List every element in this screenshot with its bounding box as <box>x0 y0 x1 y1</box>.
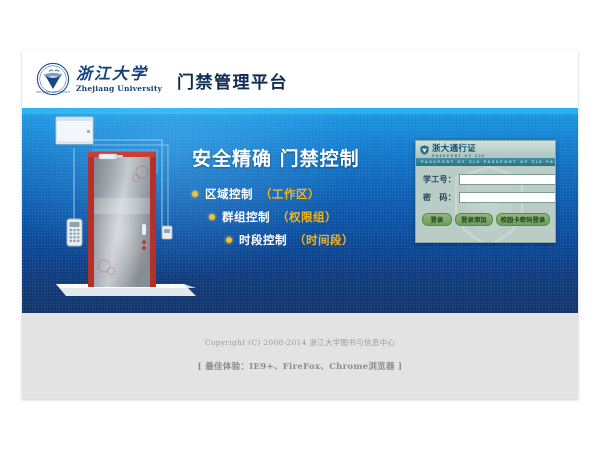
feature-label: 群组控制 <box>222 209 270 225</box>
login-button[interactable]: 登录 <box>422 213 452 226</box>
university-logo[interactable]: ZHEJIANG UNIVERSITY 浙江大学 Zhejiang Univer… <box>36 62 162 96</box>
logo-text-cn: 浙江大学 <box>76 66 162 82</box>
site-footer: Copyright (C) 2008-2014 浙江大学图书与信息中心 [ 最佳… <box>22 313 578 399</box>
feature-item-area-control: 区域控制 （工作区） <box>192 186 422 202</box>
hero-banner: 安全精确 门禁控制 区域控制 （工作区） 群组控制 （权限组） 时段控制 （时间… <box>22 108 578 313</box>
login-button-row: 登录 登录添加 校园卡密码登录 <box>422 213 550 226</box>
feature-label: 区域控制 <box>205 186 253 202</box>
access-control-door-illustration <box>44 114 204 299</box>
account-label: 学工号： <box>423 174 456 185</box>
hero-headline: 安全精确 门禁控制 <box>192 144 422 171</box>
password-label: 密 码： <box>423 192 456 203</box>
passport-repeat-strip: PASSPORT OF ZJU PASSPORT OF ZJU PASSPORT… <box>416 158 555 166</box>
login-panel-titlebar: 浙大通行证 PASSPORT OF ZJU <box>416 141 555 158</box>
bullet-dot-icon <box>226 237 232 243</box>
feature-item-group-control: 群组控制 （权限组） <box>192 209 422 225</box>
site-header: ZHEJIANG UNIVERSITY 浙江大学 Zhejiang Univer… <box>22 50 578 108</box>
account-input[interactable] <box>459 174 556 185</box>
feature-item-time-control: 时段控制 （时间段） <box>192 232 422 248</box>
page-card: ZHEJIANG UNIVERSITY 浙江大学 Zhejiang Univer… <box>22 50 578 399</box>
feature-sublabel: （工作区） <box>260 186 320 202</box>
campus-card-login-button[interactable]: 校园卡密码登录 <box>496 213 550 226</box>
footer-copyright: Copyright (C) 2008-2014 浙江大学图书与信息中心 <box>22 337 578 348</box>
logo-wordmark: 浙江大学 Zhejiang University <box>76 66 162 93</box>
login-panel-title: 浙大通行证 <box>432 145 476 154</box>
feature-sublabel: （时间段） <box>294 232 354 248</box>
bullet-dot-icon <box>192 191 198 197</box>
login-add-button[interactable]: 登录添加 <box>455 213 493 226</box>
account-field-row: 学工号： <box>423 174 549 185</box>
logo-text-en: Zhejiang University <box>76 85 162 93</box>
zju-emblem-icon: ZHEJIANG UNIVERSITY <box>36 62 70 96</box>
feature-sublabel: （权限组） <box>277 209 337 225</box>
hero-copy: 安全精确 门禁控制 区域控制 （工作区） 群组控制 （权限组） 时段控制 （时间… <box>192 144 422 255</box>
shield-icon <box>420 145 429 155</box>
login-panel: 浙大通行证 PASSPORT OF ZJU PASSPORT OF ZJU PA… <box>415 140 556 243</box>
page-title: 门禁管理平台 <box>177 68 288 93</box>
password-field-row: 密 码： <box>423 192 549 203</box>
password-input[interactable] <box>459 192 556 203</box>
svg-text:ZHEJIANG UNIVERSITY: ZHEJIANG UNIVERSITY <box>36 91 70 94</box>
hero-feature-list: 区域控制 （工作区） 群组控制 （权限组） 时段控制 （时间段） <box>192 186 422 248</box>
bullet-dot-icon <box>209 214 215 220</box>
footer-browser-note: [ 最佳体验：IE9+、FireFox、Chrome浏览器 ] <box>22 360 578 372</box>
passport-strip-text: PASSPORT OF ZJU PASSPORT OF ZJU PASSPORT… <box>416 160 555 164</box>
feature-label: 时段控制 <box>239 232 287 248</box>
